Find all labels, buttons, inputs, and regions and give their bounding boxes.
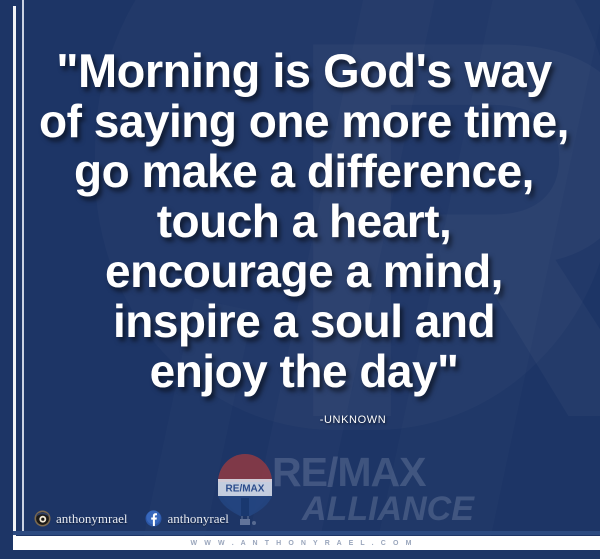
quote-line-4: touch a heart,: [26, 196, 582, 246]
quote-line-6: inspire a soul and: [26, 296, 582, 346]
quote-line-2: of saying one more time,: [26, 96, 582, 146]
left-margin-fill: [0, 0, 13, 559]
social-handle-facebook: anthonyrael: [167, 511, 228, 527]
quote-line-3: go make a difference,: [26, 146, 582, 196]
svg-text:RE/MAX: RE/MAX: [226, 484, 265, 495]
remax-watermark: RE/MAX RE/MAX ALLIANCE: [214, 452, 504, 532]
social-handle-avatar: anthonymrael: [56, 511, 127, 527]
footer-stripe: [13, 531, 600, 535]
footer-url-text[interactable]: W W W . A N T H O N Y R A E L . C O M: [191, 540, 600, 547]
bottom-margin-fill: [0, 550, 600, 559]
quote-line-7: enjoy the day": [26, 346, 582, 396]
quote-line-5: encourage a mind,: [26, 246, 582, 296]
remax-brand-line1: RE/MAX: [272, 452, 502, 492]
quote-attribution: -UNKNOWN: [0, 414, 586, 426]
social-account-avatar[interactable]: anthonymrael: [34, 510, 127, 527]
quote-line-1: "Morning is God's way: [26, 46, 582, 96]
quote-poster: R "Morning is God's way of saying one mo…: [0, 0, 600, 559]
social-account-facebook[interactable]: anthonyrael: [145, 510, 228, 527]
footer-url-bar: W W W . A N T H O N Y R A E L . C O M: [13, 536, 600, 550]
facebook-icon: [145, 510, 162, 527]
remax-brand-line2: ALLIANCE: [272, 492, 502, 526]
avatar-photo-icon: [34, 510, 51, 527]
remax-wordmark: RE/MAX ALLIANCE: [272, 452, 502, 526]
social-links: anthonymrael anthonyrael: [34, 510, 239, 527]
quote-text: "Morning is God's way of saying one more…: [26, 46, 582, 396]
